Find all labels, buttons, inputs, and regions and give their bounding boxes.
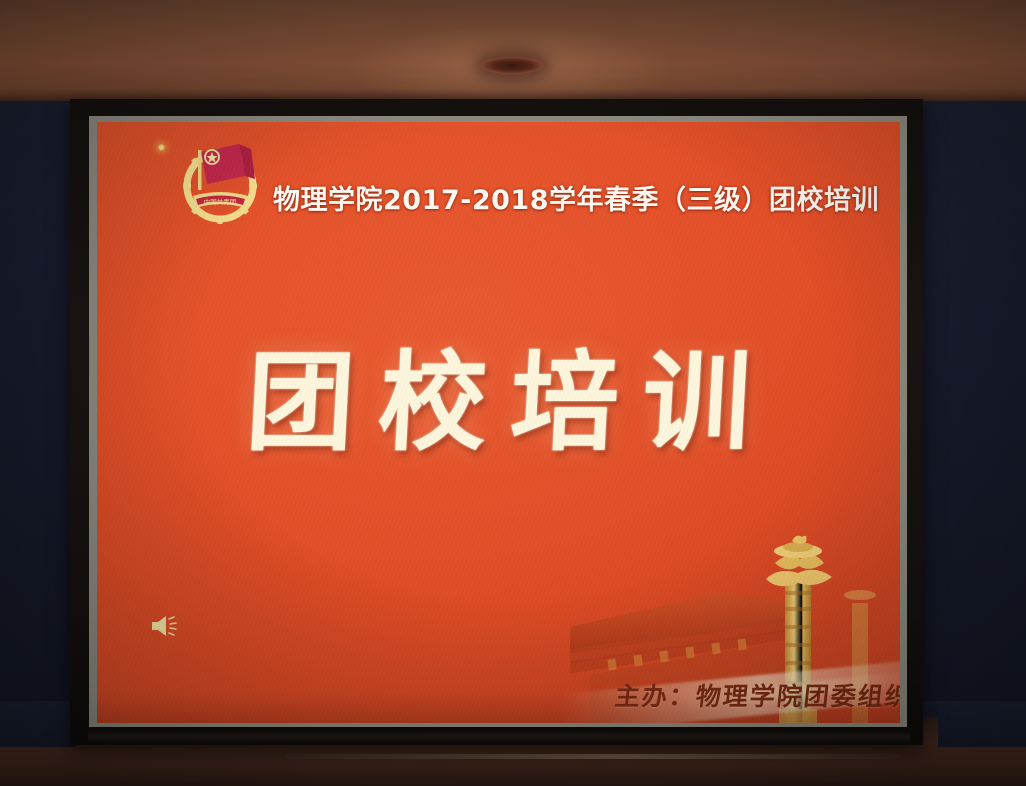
speaker-audio-icon xyxy=(150,613,180,639)
screen-bottom-rail xyxy=(88,730,910,742)
screen-bottom-rail-highlight xyxy=(285,754,900,759)
wall-right xyxy=(920,101,1026,701)
communist-youth-league-emblem: 中国共青团 xyxy=(181,136,259,224)
projection-screen-bezel: 中国共青团 物理学院2017-2018学年春季（三级）团校培训 团校培训 xyxy=(89,116,907,727)
svg-text:中国共青团: 中国共青团 xyxy=(204,197,237,206)
ceiling xyxy=(0,0,1026,101)
projection-screen-frame: 中国共青团 物理学院2017-2018学年春季（三级）团校培训 团校培训 xyxy=(70,99,923,745)
slide-footer-host: 主办：物理学院团委组织部 xyxy=(613,677,900,713)
slide-main-title: 团校培训 xyxy=(97,347,900,460)
slide-header-title: 物理学院2017-2018学年春季（三级）团校培训 xyxy=(273,178,873,217)
lower-wall-right-gap xyxy=(938,701,1026,747)
golden-star-dot-icon xyxy=(158,144,165,151)
recessed-ceiling-light-icon xyxy=(481,57,543,74)
lower-wall-left-gap xyxy=(0,701,76,747)
presentation-slide: 中国共青团 物理学院2017-2018学年春季（三级）团校培训 团校培训 xyxy=(97,122,900,723)
lecture-room-photo: 中国共青团 物理学院2017-2018学年春季（三级）团校培训 团校培训 xyxy=(0,0,1026,786)
